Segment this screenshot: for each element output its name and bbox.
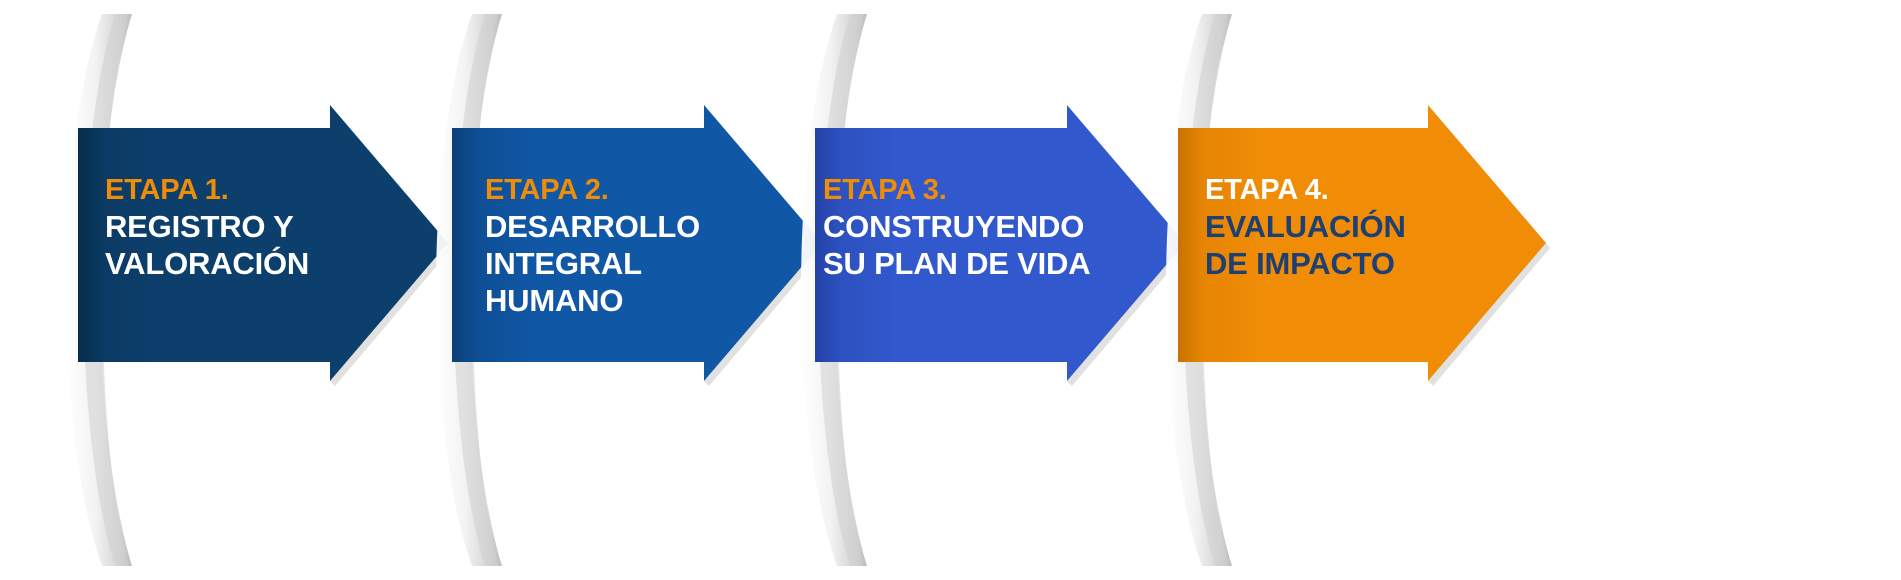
- diagram-canvas: ETAPA 1. REGISTRO Y VALORACIÓN: [0, 0, 1901, 580]
- stage-arrow-3-text: ETAPA 3. CONSTRUYENDO SU PLAN DE VIDA: [823, 173, 1153, 282]
- stage-4-title: EVALUACIÓN DE IMPACTO: [1205, 208, 1535, 282]
- stage-4-label: ETAPA 4.: [1205, 173, 1535, 208]
- stage-3-label: ETAPA 3.: [823, 173, 1153, 208]
- stage-arrow-4-text: ETAPA 4. EVALUACIÓN DE IMPACTO: [1205, 173, 1535, 282]
- stage-3-title: CONSTRUYENDO SU PLAN DE VIDA: [823, 208, 1153, 282]
- stage-arrow-4[interactable]: ETAPA 4. EVALUACIÓN DE IMPACTO: [1110, 0, 1580, 580]
- process-arrow-chain: ETAPA 1. REGISTRO Y VALORACIÓN: [0, 0, 1901, 580]
- arrow-shape-4-icon: [1110, 0, 1580, 580]
